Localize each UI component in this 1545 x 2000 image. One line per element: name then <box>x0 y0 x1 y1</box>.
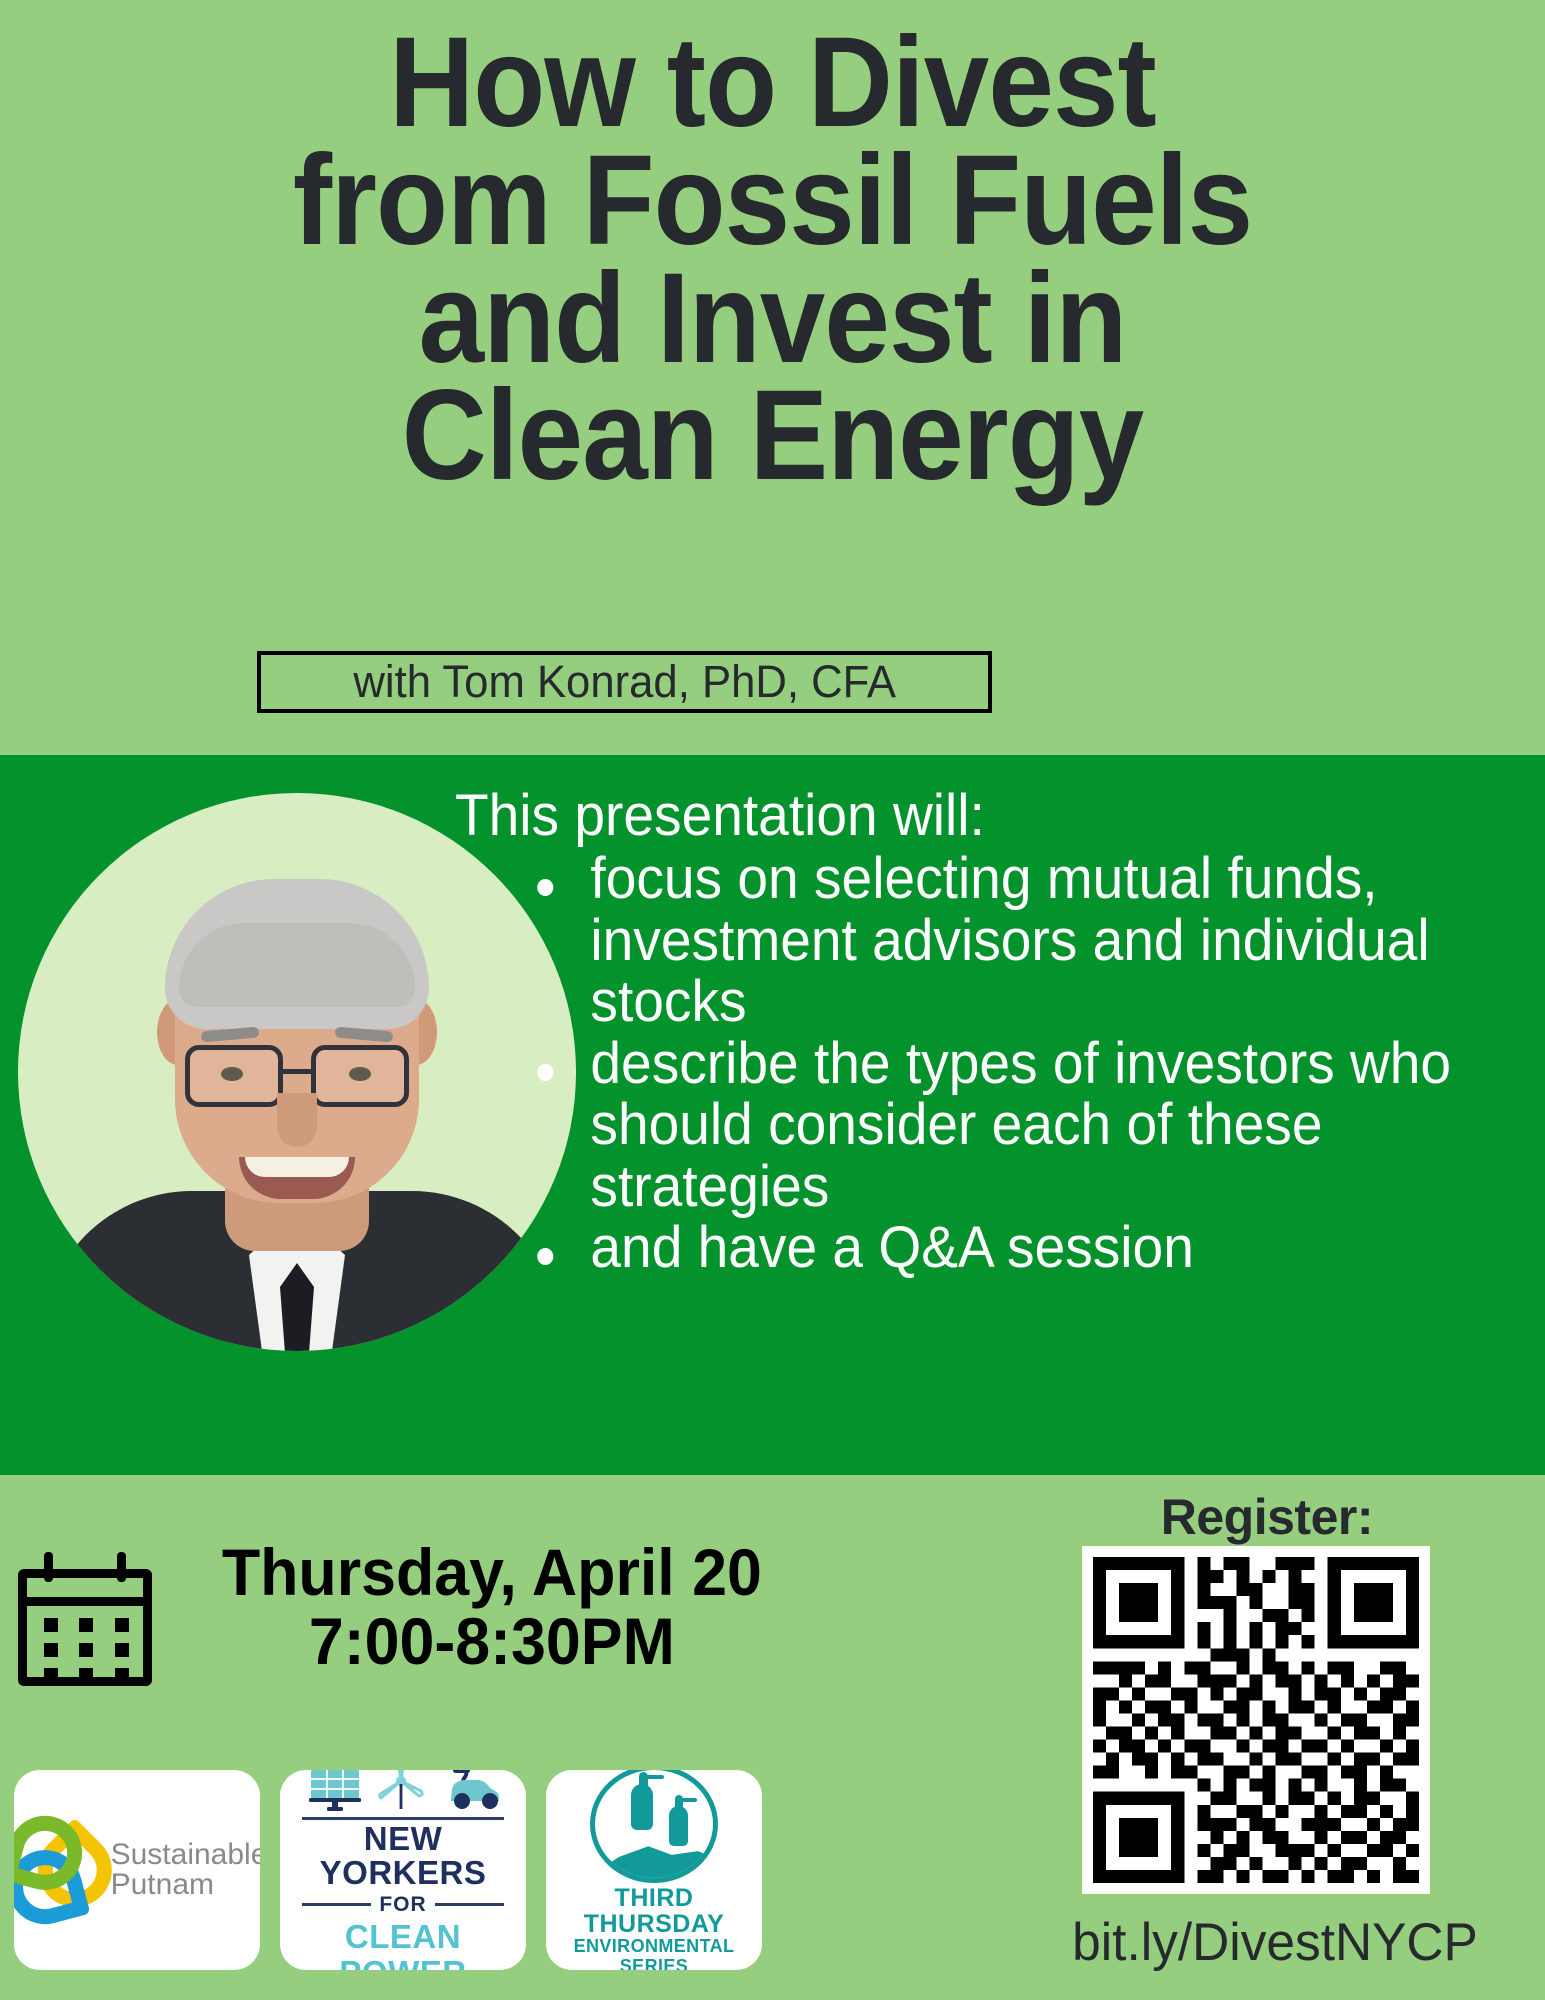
registration-url[interactable]: bit.ly/DivestNYCP <box>1013 1912 1537 1973</box>
wind-turbine-icon <box>375 1770 427 1811</box>
glasses-lens-right <box>311 1045 409 1107</box>
title-line-3: and Invest in <box>62 260 1483 378</box>
bullet-dot-icon <box>537 879 553 896</box>
glasses-bridge <box>283 1069 311 1074</box>
details-bullet-list: focus on selecting mutual funds, investm… <box>455 848 1515 1278</box>
list-item: and have a Q&A session <box>503 1217 1464 1278</box>
calendar-day-dots <box>44 1618 130 1682</box>
nycp-line-1: NEW YORKERS <box>288 1822 518 1891</box>
datetime-text: Thursday, April 20 7:00-8:30PM <box>175 1530 804 1675</box>
tt-line-2: ENVIRONMENTAL SERIES <box>552 1937 756 1970</box>
bullet-text: focus on selecting mutual funds, investm… <box>590 846 1429 1034</box>
portrait-hair <box>165 879 429 1029</box>
speaker-name: with Tom Konrad, PhD, CFA <box>353 656 896 708</box>
list-item: describe the types of investors who shou… <box>503 1033 1464 1217</box>
calendar-icon <box>18 1552 158 1687</box>
nycp-line-3: CLEAN POWER <box>288 1919 518 1970</box>
details-panel: This presentation will: focus on selecti… <box>0 755 1545 1475</box>
qr-code[interactable] <box>1082 1546 1430 1894</box>
speaker-box: with Tom Konrad, PhD, CFA <box>257 651 992 713</box>
register-label: Register: <box>1161 1488 1373 1546</box>
bullet-text: and have a Q&A session <box>590 1215 1193 1280</box>
nycp-icon-row <box>288 1770 518 1811</box>
logo-third-thursday: THIRD THURSDAY ENVIRONMENTAL SERIES <box>546 1770 762 1970</box>
sp-line-1: Sustainable <box>111 1840 260 1870</box>
electric-car-icon <box>437 1770 501 1811</box>
event-datetime: Thursday, April 20 7:00-8:30PM <box>0 1530 820 1687</box>
title-line-2: from Fossil Fuels <box>62 142 1483 260</box>
presentation-details: This presentation will: focus on selecti… <box>455 785 1515 1279</box>
sustainable-putnam-mark-icon <box>14 1822 103 1918</box>
bullet-dot-icon <box>537 1248 553 1265</box>
sustainable-putnam-wordmark: Sustainable Putnam <box>111 1840 260 1900</box>
page-title: How to Divest from Fossil Fuels and Inve… <box>0 24 1545 495</box>
bullet-text: describe the types of investors who shou… <box>590 1031 1451 1219</box>
sponsor-logos: Sustainable Putnam <box>14 1770 762 1970</box>
sp-line-2: Putnam <box>111 1870 260 1900</box>
bullet-dot-icon <box>537 1064 553 1081</box>
title-line-4: Clean Energy <box>62 377 1483 495</box>
list-item: focus on selecting mutual funds, investm… <box>503 848 1464 1032</box>
logo-new-yorkers-for-clean-power: NEW YORKERS FOR CLEAN POWER <box>280 1770 526 1970</box>
logo-sustainable-putnam: Sustainable Putnam <box>14 1770 260 1970</box>
solar-panel-icon <box>305 1770 365 1811</box>
event-time: 7:00-8:30PM <box>180 1607 803 1676</box>
portrait-nose <box>277 1093 317 1147</box>
details-intro: This presentation will: <box>455 785 1462 846</box>
title-line-1: How to Divest <box>62 24 1483 142</box>
portrait-teeth <box>245 1157 349 1177</box>
heron-icon <box>590 1770 718 1883</box>
tt-line-1: THIRD THURSDAY <box>552 1885 756 1938</box>
qr-code-canvas[interactable] <box>1093 1557 1419 1883</box>
glasses-lens-left <box>185 1045 283 1107</box>
calendar-header-bar <box>27 1597 143 1606</box>
event-date: Thursday, April 20 <box>180 1538 803 1607</box>
nycp-line-2: FOR <box>379 1893 426 1917</box>
event-poster: How to Divest from Fossil Fuels and Inve… <box>0 0 1545 2000</box>
